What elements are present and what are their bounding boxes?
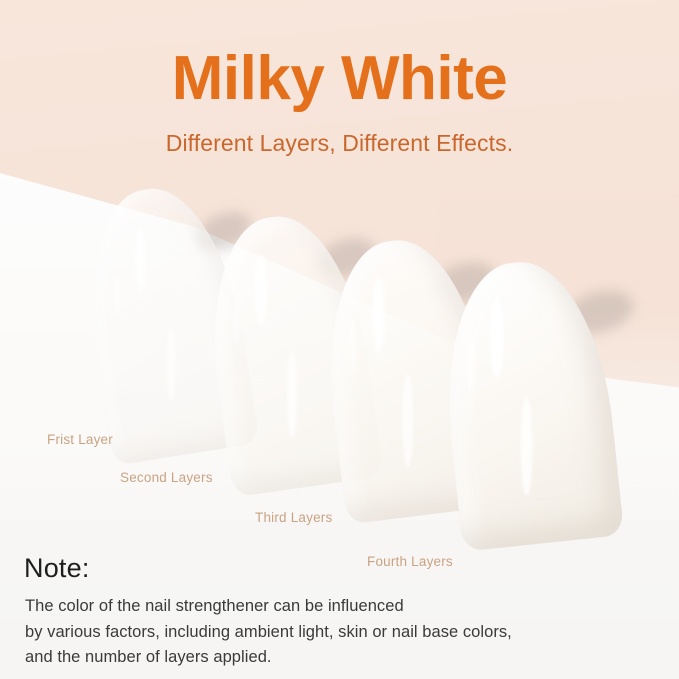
note-heading: Note: — [24, 553, 90, 584]
page-subtitle: Different Layers, Different Effects. — [0, 130, 679, 157]
nail-gloss-highlight — [372, 276, 385, 352]
layer-label-2: Second Layers — [120, 470, 213, 485]
nail-swatch-layer-4 — [434, 254, 625, 551]
layer-label-3: Third Layers — [255, 510, 332, 525]
product-infographic: Milky White Different Layers, Different … — [0, 0, 679, 679]
note-body-text: The color of the nail strengthener can b… — [25, 594, 512, 671]
nail-gloss-highlight — [114, 276, 120, 316]
nail-gloss-highlight — [490, 296, 504, 378]
nail-gloss-highlight — [467, 341, 476, 395]
nail-gloss-highlight — [287, 352, 297, 438]
layer-label-4: Fourth Layers — [367, 554, 453, 569]
layer-label-1: Frist Layer — [47, 432, 113, 447]
page-title: Milky White — [0, 48, 679, 110]
